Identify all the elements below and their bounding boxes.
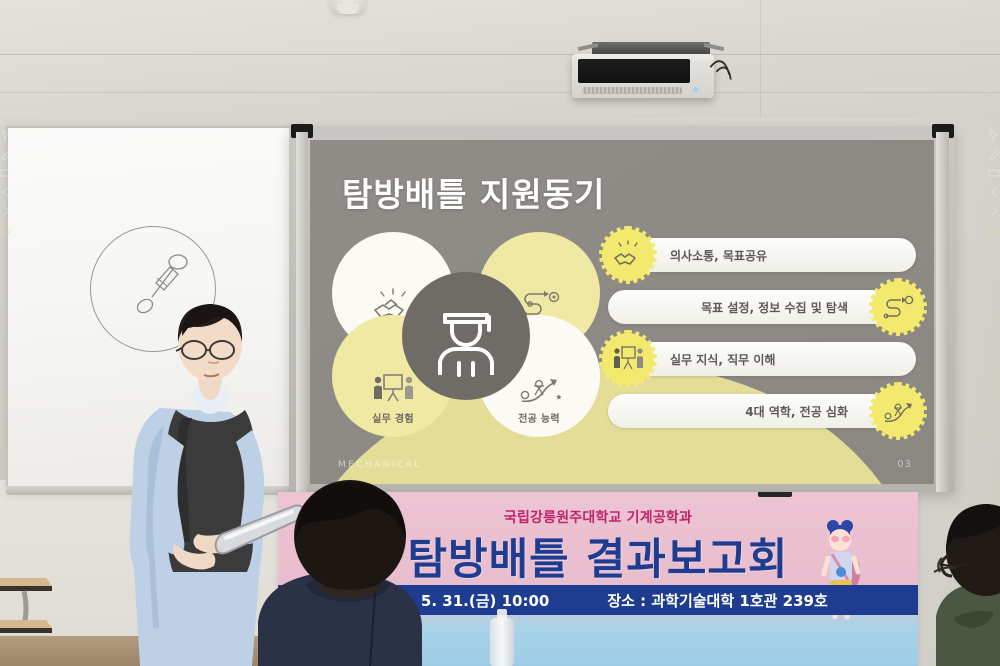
list-item: 의사소통, 목표공유 [608, 238, 916, 272]
infographic-center [402, 272, 530, 400]
pen-icon[interactable] [987, 147, 1000, 161]
keyboard-icon[interactable] [987, 166, 1000, 180]
list-item: 목표 설정, 정보 수집 및 탐색 [608, 290, 916, 324]
list-item: 4대 역학, 전공 심화 [608, 394, 916, 428]
projector-toolbar-left[interactable] [0, 128, 16, 237]
seated-attendee-olive-jacket [930, 498, 1000, 666]
projector-lens-panel [578, 59, 690, 83]
prev-arrow-icon[interactable] [0, 185, 13, 199]
handshake-icon [612, 240, 644, 270]
banner-clip [758, 492, 792, 497]
pointer-icon[interactable] [0, 128, 13, 142]
smoke-detector-icon [330, 0, 366, 14]
refresh-icon[interactable] [0, 223, 13, 237]
list-item-text: 목표 설정, 정보 수집 및 탐색 [701, 299, 848, 316]
lecture-room-scene: 탐방배틀 지원동기 팀워크 진 [0, 0, 1000, 666]
list-item-badge [872, 385, 924, 437]
presentation-icon [612, 344, 644, 374]
banner-location: 장소 : 과학기술대학 1호관 239호 [607, 590, 827, 611]
list-item: 실무 지식, 직무 이해 [608, 342, 916, 376]
slide-list: 의사소통, 목표공유 목표 설정, 정보 수집 및 탐색 [608, 238, 916, 446]
projector [572, 54, 714, 98]
projector-status-led [693, 87, 698, 92]
list-item-badge [872, 281, 924, 333]
water-bottle [490, 618, 514, 666]
growth-star-icon [517, 371, 561, 407]
keyboard-icon[interactable] [0, 166, 13, 180]
graduate-person-icon [427, 295, 505, 377]
prev-arrow-icon[interactable] [987, 185, 1000, 199]
next-arrow-icon[interactable] [0, 204, 13, 218]
path-gear-icon [882, 292, 914, 322]
seated-attendee-navy-suit [258, 480, 490, 666]
list-item-text: 4대 역학, 전공 심화 [745, 403, 848, 420]
infographic-lobe-label: 전공 능력 [518, 410, 560, 425]
refresh-icon[interactable] [987, 223, 1000, 237]
pen-icon[interactable] [0, 147, 13, 161]
stacked-desks [0, 558, 84, 666]
list-item-badge [602, 229, 654, 281]
infographic-lobe-label: 실무 경험 [372, 410, 414, 425]
screen-rail-right [936, 132, 949, 492]
slide-infographic: 팀워크 진로 계획 [332, 232, 600, 437]
slide-footer-text: MECHANICAL [338, 460, 422, 470]
projector-vent [582, 87, 682, 94]
pointer-icon[interactable] [987, 128, 1000, 142]
list-item-text: 실무 지식, 직무 이해 [670, 351, 775, 368]
slide-title: 탐방배틀 지원동기 [342, 168, 605, 216]
list-item-badge [602, 333, 654, 385]
presentation-slide: 탐방배틀 지원동기 팀워크 진 [310, 140, 934, 484]
presentation-icon [371, 371, 415, 407]
list-item-text: 의사소통, 목표공유 [670, 247, 767, 264]
slide-page-number: 03 [897, 459, 912, 470]
projector-toolbar-right[interactable] [984, 128, 1000, 237]
growth-star-icon [882, 396, 914, 426]
next-arrow-icon[interactable] [987, 204, 1000, 218]
ceiling [0, 0, 1000, 128]
